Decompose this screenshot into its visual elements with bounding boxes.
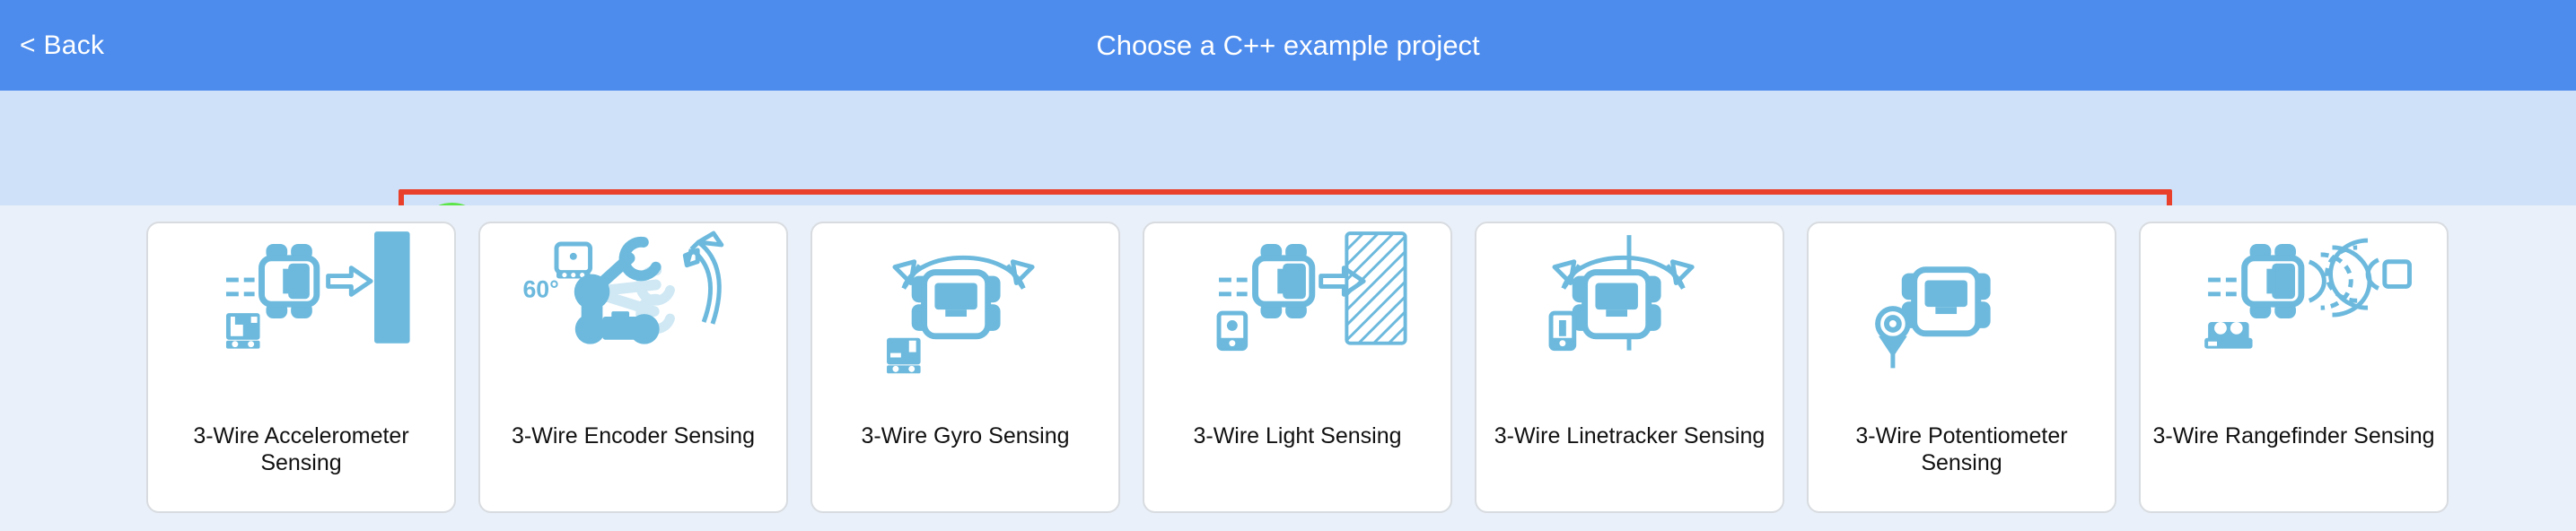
example-project-card[interactable]: 3-Wire Linetracker Sensing xyxy=(1475,222,1784,513)
svg-text:60°: 60° xyxy=(522,275,558,302)
example-project-card[interactable]: 3-Wire Light Sensing xyxy=(1143,222,1452,513)
example-project-title: 3-Wire Rangefinder Sensing xyxy=(2150,422,2438,449)
example-project-card[interactable]: 3-Wire Rangefinder Sensing xyxy=(2139,222,2449,513)
example-project-title: 3-Wire Accelerometer Sensing xyxy=(157,422,445,476)
example-project-title: 3-Wire Gyro Sensing xyxy=(821,422,1109,449)
example-project-title: 3-Wire Light Sensing xyxy=(1153,422,1441,449)
gyro-icon xyxy=(812,223,1118,416)
example-project-card[interactable]: 3-Wire Potentiometer Sensing xyxy=(1807,222,2116,513)
light-icon xyxy=(1144,223,1450,416)
example-project-title: 3-Wire Potentiometer Sensing xyxy=(1818,422,2106,476)
example-project-card[interactable]: 60° 3-Wire Encoder Sensing xyxy=(478,222,788,513)
example-project-card[interactable]: 3-Wire Accelerometer Sensing xyxy=(146,222,456,513)
rangefinder-icon xyxy=(2141,223,2447,416)
example-project-card[interactable]: 3-Wire Gyro Sensing xyxy=(810,222,1120,513)
accelerometer-icon xyxy=(148,223,454,416)
category-filter-bar: AllTemplatesMotionDrivetrainLooksSoundMa… xyxy=(0,91,2576,205)
linetracker-icon xyxy=(1476,223,1783,416)
app-header: < Back Choose a C++ example project xyxy=(0,0,2576,91)
potentiometer-icon xyxy=(1809,223,2115,416)
encoder-icon: 60° xyxy=(480,223,786,416)
example-project-title: 3-Wire Encoder Sensing xyxy=(489,422,777,449)
page-title: Choose a C++ example project xyxy=(0,30,2576,62)
example-card-row: 3-Wire Accelerometer Sensing 60° xyxy=(146,222,2449,513)
example-project-title: 3-Wire Linetracker Sensing xyxy=(1485,422,1774,449)
example-project-grid: 3-Wire Accelerometer Sensing 60° xyxy=(0,205,2576,531)
